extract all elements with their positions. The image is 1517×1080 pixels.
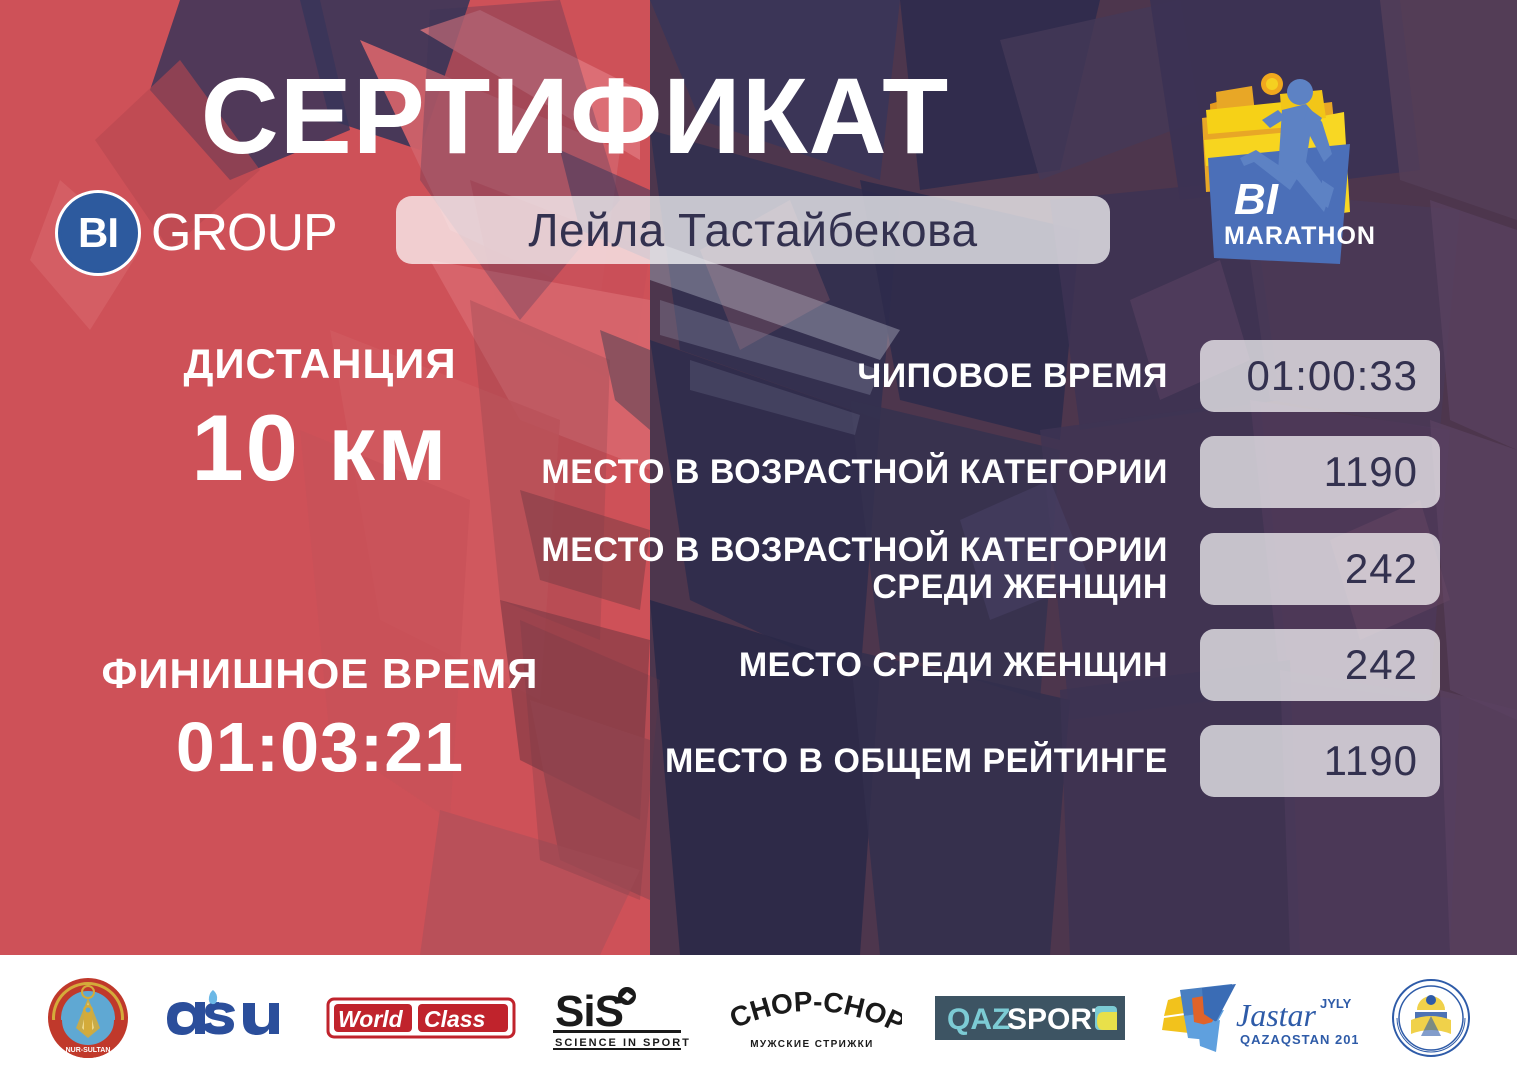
stat-pill: 1190 xyxy=(1200,436,1440,508)
class-text: Class xyxy=(424,1006,485,1032)
stat-row: МЕСТО В ВОЗРАСТНОЙ КАТЕГОРИИ СРЕДИ ЖЕНЩИ… xyxy=(480,532,1440,605)
bi-circle-icon: BI xyxy=(55,190,141,276)
marathon-bi-text: BI xyxy=(1234,175,1279,224)
sponsor-world-class: World Class xyxy=(326,975,516,1061)
sponsor-asu xyxy=(163,975,293,1061)
nur-sultan-text: NUR-SULTAN xyxy=(66,1047,111,1054)
chop-chop-text: CHOP-CHOP xyxy=(725,985,902,1038)
jastar-subtitle: QAZAQSTAN 2019 xyxy=(1240,1032,1358,1047)
stat-label: МЕСТО В ВОЗРАСТНОЙ КАТЕГОРИИ xyxy=(480,454,1168,491)
sponsor-chop-chop: CHOP-CHOP МУЖСКИЕ СТРИЖКИ xyxy=(722,975,902,1061)
stat-pill: 1190 xyxy=(1200,725,1440,797)
stat-row: МЕСТО В ВОЗРАСТНОЙ КАТЕГОРИИ 1190 xyxy=(480,436,1440,508)
stat-label: МЕСТО В ОБЩЕМ РЕЙТИНГЕ xyxy=(480,743,1168,780)
stat-label: МЕСТО В ВОЗРАСТНОЙ КАТЕГОРИИ СРЕДИ ЖЕНЩИ… xyxy=(480,532,1168,605)
sis-tagline: SCIENCE IN SPORT xyxy=(555,1037,689,1049)
bi-initials: BI xyxy=(78,209,118,257)
stat-value: 1190 xyxy=(1324,737,1418,785)
jyly-text: JYLY xyxy=(1320,996,1352,1011)
marathon-word-text: MARATHON xyxy=(1224,222,1376,250)
stat-value: 242 xyxy=(1345,641,1418,689)
stat-row: МЕСТО В ОБЩЕМ РЕЙТИНГЕ 1190 xyxy=(480,725,1440,797)
sponsor-jastar-jyly: Jastar JYLY QAZAQSTAN 2019 xyxy=(1158,975,1358,1061)
stat-label: ЧИПОВОЕ ВРЕМЯ xyxy=(480,358,1168,395)
participant-name-banner: Лейла Тастайбекова xyxy=(396,196,1110,264)
certificate-title: СЕРТИФИКАТ xyxy=(0,62,1150,170)
sponsor-footer: NUR-SULTAN World Class xyxy=(0,955,1517,1080)
stat-value: 242 xyxy=(1345,545,1418,593)
bi-group-logo: BI GROUP xyxy=(55,190,337,276)
sponsor-ministry-emblem xyxy=(1391,975,1471,1061)
stat-value: 1190 xyxy=(1324,448,1418,496)
certificate-root: BI GROUP СЕРТИФИКАТ Лейла Тастайбекова xyxy=(0,0,1517,1080)
world-text: World xyxy=(338,1006,404,1032)
sponsor-nur-sultan-emblem: NUR-SULTAN xyxy=(46,975,130,1061)
chop-chop-tagline: МУЖСКИЕ СТРИЖКИ xyxy=(750,1039,874,1050)
stat-label: МЕСТО СРЕДИ ЖЕНЩИН xyxy=(480,647,1168,684)
stat-row: МЕСТО СРЕДИ ЖЕНЩИН 242 xyxy=(480,629,1440,701)
qaz-text: QAZ xyxy=(947,1003,1010,1036)
stat-pill: 242 xyxy=(1200,629,1440,701)
stat-row: ЧИПОВОЕ ВРЕМЯ 01:00:33 xyxy=(480,340,1440,412)
stat-pill: 01:00:33 xyxy=(1200,340,1440,412)
stat-pill: 242 xyxy=(1200,533,1440,605)
sponsor-sis: SiS SCIENCE IN SPORT xyxy=(549,975,689,1061)
sponsor-qazsport: QAZ SPORT xyxy=(935,975,1125,1061)
bi-group-word: GROUP xyxy=(151,203,337,263)
stat-value: 01:00:33 xyxy=(1247,352,1419,400)
jastar-text: Jastar xyxy=(1236,997,1317,1033)
sport-text: SPORT xyxy=(1007,1003,1110,1036)
sis-text: SiS xyxy=(555,987,623,1036)
participant-name: Лейла Тастайбекова xyxy=(528,203,977,257)
stats-list: ЧИПОВОЕ ВРЕМЯ 01:00:33 МЕСТО В ВОЗРАСТНО… xyxy=(480,340,1440,797)
bi-marathon-logo: BI MARATHON xyxy=(1182,62,1382,302)
